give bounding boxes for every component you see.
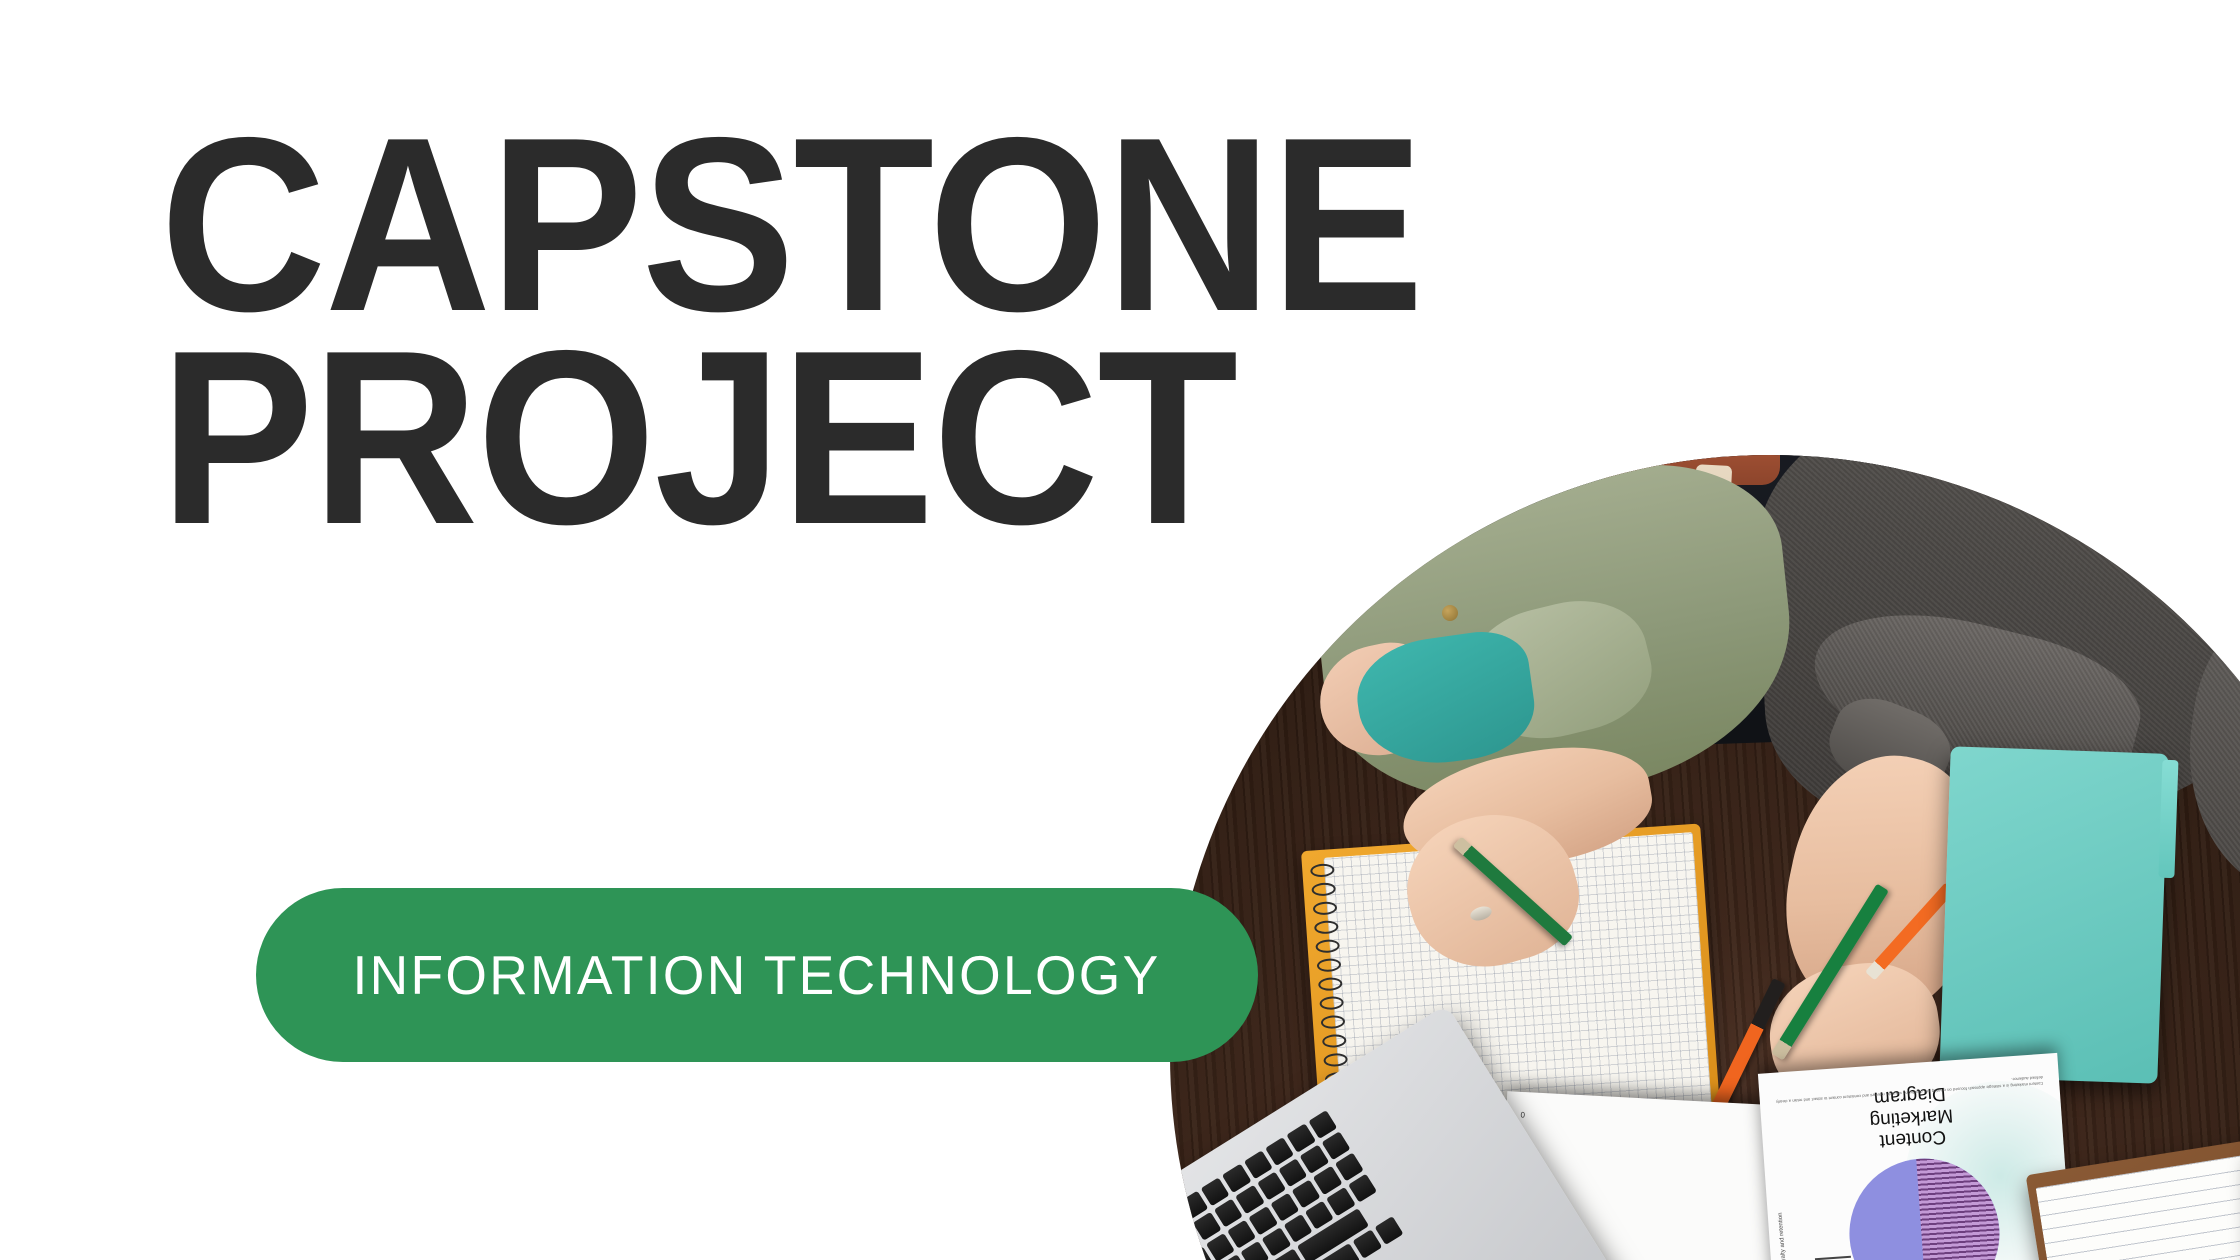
histogram-bar-segment xyxy=(1719,1120,1767,1123)
laptop-key xyxy=(1353,1230,1382,1259)
histogram-bar-segment xyxy=(1663,1117,1711,1120)
teal-notebook-bookmark xyxy=(2158,760,2178,878)
teal-notebook xyxy=(1939,746,2168,1083)
histogram-bar-segment xyxy=(1719,1120,1767,1123)
people-group xyxy=(1170,455,2240,785)
histogram-bar-segment xyxy=(1550,1111,1598,1114)
pie-side-note: customer loyalty and retention xyxy=(1778,1212,1790,1260)
histogram-bar-segment xyxy=(1606,1114,1654,1117)
desk-surface: 100% Marketing histogram January Februar… xyxy=(1170,455,2240,1260)
histogram-ytick-0: 0 xyxy=(1520,1110,1525,1119)
content-marketing-diagram-paper: BRAND TRUST customer loyalty and retenti… xyxy=(1758,1053,2078,1260)
presentation-slide: 100% Marketing histogram January Februar… xyxy=(0,0,2240,1260)
laptop-key xyxy=(1348,1174,1377,1203)
jacket-button-top xyxy=(1442,605,1458,621)
histogram-bar-segment xyxy=(1663,1117,1711,1120)
laptop-keyboard xyxy=(1170,1110,1485,1260)
histogram-bar xyxy=(1550,1111,1598,1114)
pie-side-leader-line xyxy=(1815,1256,1851,1260)
histogram-bar xyxy=(1719,1120,1767,1123)
clipboard-lined-paper xyxy=(2036,1154,2240,1260)
histogram-bar xyxy=(1663,1117,1711,1120)
information-technology-button-label: INFORMATION TECHNOLOGY xyxy=(353,943,1161,1007)
histogram-bar xyxy=(1606,1114,1654,1117)
histogram-bar-segment xyxy=(1719,1120,1767,1123)
histogram-bar-segment xyxy=(1663,1117,1711,1120)
histogram-bar-segment xyxy=(1606,1114,1654,1117)
information-technology-button[interactable]: INFORMATION TECHNOLOGY xyxy=(256,888,1258,1062)
histogram-bar-segment xyxy=(1606,1114,1654,1117)
hero-photo-circle: 100% Marketing histogram January Februar… xyxy=(1170,455,2240,1260)
laptop-key xyxy=(1374,1216,1403,1245)
histogram-bar-segment xyxy=(1550,1111,1598,1114)
